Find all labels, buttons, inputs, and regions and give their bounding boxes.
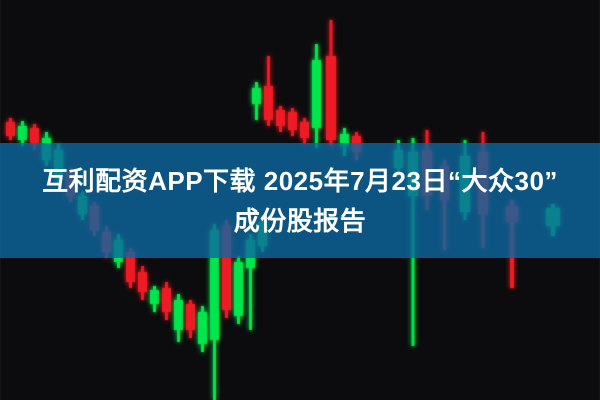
- banner-image: 互利配资APP下载 2025年7月23日“大众30” 成份股报告: [0, 0, 600, 400]
- banner-overlay: 互利配资APP下载 2025年7月23日“大众30” 成份股报告: [0, 143, 600, 258]
- banner-title-line-1: 互利配资APP下载 2025年7月23日“大众30”: [42, 161, 558, 201]
- banner-title-line-2: 成份股报告: [234, 201, 367, 241]
